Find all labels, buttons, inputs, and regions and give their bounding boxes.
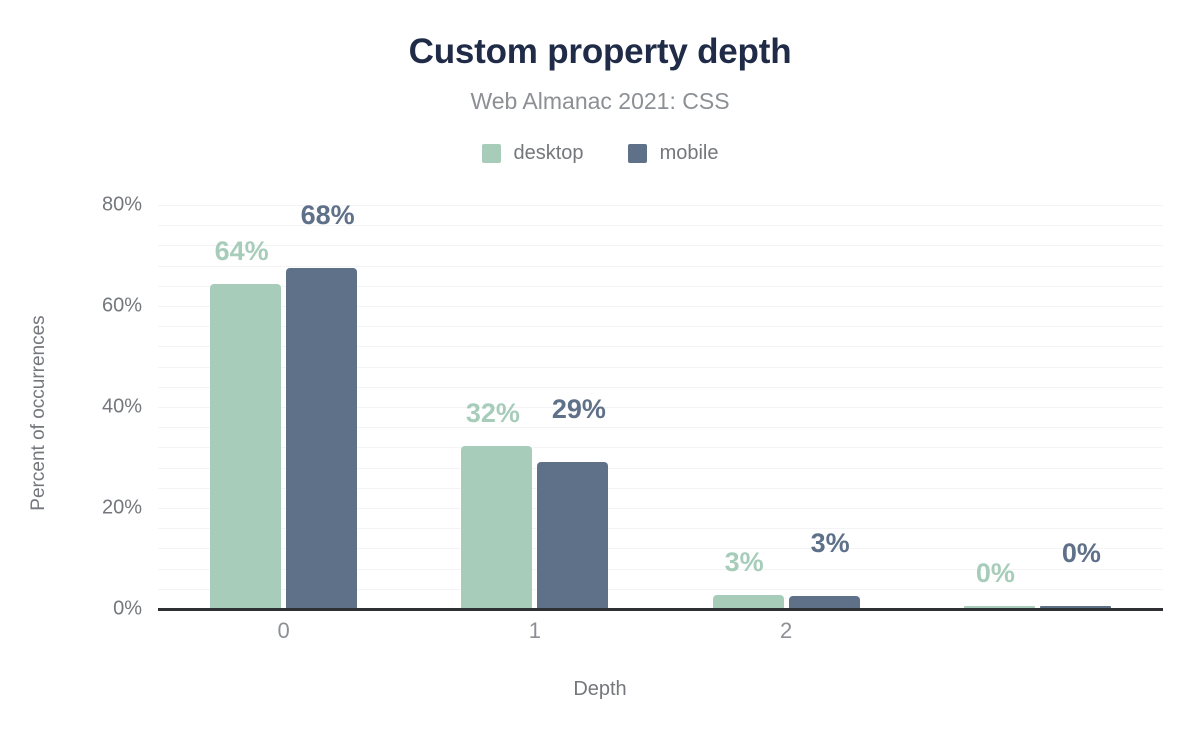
- bar-label-desktop-1: 32%: [466, 398, 520, 429]
- x-axis-line: [158, 608, 1163, 611]
- x-tick-label: 1: [529, 618, 541, 644]
- bar-label-mobile-3: 0%: [1062, 538, 1101, 569]
- bar-chart: Custom property depth Web Almanac 2021: …: [0, 0, 1200, 742]
- bar-desktop-1[interactable]: [461, 446, 532, 609]
- y-tick-label: 40%: [32, 396, 142, 419]
- legend-item-desktop[interactable]: desktop: [482, 142, 584, 165]
- gridline: [158, 245, 1163, 246]
- bar-desktop-0[interactable]: [210, 284, 281, 609]
- bar-label-desktop-2: 3%: [725, 547, 764, 578]
- bar-label-mobile-1: 29%: [552, 394, 606, 425]
- legend-item-mobile[interactable]: mobile: [628, 142, 719, 165]
- bar-label-desktop-0: 64%: [215, 236, 269, 267]
- bar-desktop-2[interactable]: [713, 595, 784, 609]
- legend-swatch-desktop: [482, 144, 501, 163]
- legend-label-mobile: mobile: [660, 142, 719, 165]
- x-axis-title: Depth: [0, 678, 1200, 701]
- chart-subtitle: Web Almanac 2021: CSS: [0, 88, 1200, 115]
- y-tick-label: 20%: [32, 497, 142, 520]
- legend-label-desktop: desktop: [514, 142, 584, 165]
- y-axis: Percent of occurrences 0%20%40%60%80%: [0, 0, 158, 742]
- bar-label-mobile-2: 3%: [811, 528, 850, 559]
- gridline: [158, 266, 1163, 267]
- bar-mobile-0[interactable]: [286, 268, 357, 609]
- y-tick-label: 0%: [32, 598, 142, 621]
- y-tick-label: 60%: [32, 295, 142, 318]
- x-tick-label: 2: [780, 618, 792, 644]
- chart-title: Custom property depth: [0, 32, 1200, 72]
- x-tick-label: 0: [278, 618, 290, 644]
- chart-legend: desktop mobile: [0, 142, 1200, 165]
- plot-area: [158, 205, 1163, 609]
- bar-label-mobile-0: 68%: [301, 200, 355, 231]
- legend-swatch-mobile: [628, 144, 647, 163]
- bar-label-desktop-3: 0%: [976, 558, 1015, 589]
- y-tick-label: 80%: [32, 194, 142, 217]
- bar-mobile-1[interactable]: [537, 462, 608, 609]
